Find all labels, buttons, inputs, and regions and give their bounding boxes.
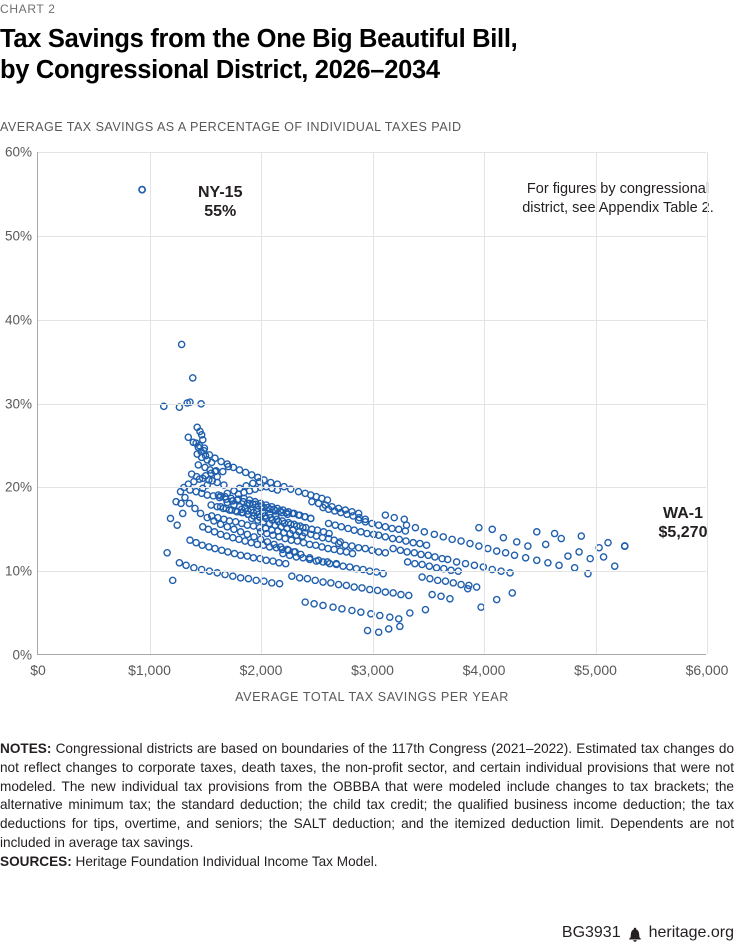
scatter-point	[412, 561, 418, 567]
scatter-point	[319, 544, 325, 550]
title-line-2: by Congressional District, 2026–2034	[0, 55, 700, 86]
scatter-point	[309, 499, 315, 505]
scatter-point	[389, 525, 395, 531]
scatter-point	[349, 551, 355, 557]
scatter-point	[179, 341, 185, 347]
scatter-point	[442, 578, 448, 584]
scatter-point	[245, 576, 251, 582]
scatter-point	[494, 597, 500, 603]
scatter-point	[331, 546, 337, 552]
scatter-point	[230, 573, 236, 579]
scatter-point	[342, 542, 348, 548]
report-id: BG3931	[562, 924, 621, 942]
scatter-point	[182, 494, 188, 500]
scatter-point	[330, 604, 336, 610]
chart-number: CHART 2	[0, 2, 56, 16]
scatter-point	[336, 581, 342, 587]
scatter-point	[244, 531, 250, 537]
scatter-point	[525, 543, 531, 549]
x-axis-tick: $4,000	[463, 662, 506, 678]
scatter-point	[551, 530, 557, 536]
scatter-point	[534, 557, 540, 563]
scatter-point	[377, 612, 383, 618]
scatter-point	[276, 560, 282, 566]
scatter-point	[282, 535, 288, 541]
sources-text: Heritage Foundation Individual Income Ta…	[72, 854, 378, 869]
y-axis-tick: 0%	[12, 648, 32, 663]
scatter-point	[308, 515, 314, 521]
scatter-point	[349, 509, 355, 515]
scatter-point	[382, 550, 388, 556]
scatter-point	[288, 537, 294, 543]
appendix-note: For figures by congressional district, s…	[500, 180, 734, 218]
scatter-point	[503, 550, 509, 556]
scatter-point	[396, 616, 402, 622]
scatter-point	[397, 547, 403, 553]
scatter-point	[319, 535, 325, 541]
scatter-point	[332, 522, 338, 528]
scatter-point	[417, 540, 423, 546]
gridline-vertical	[596, 152, 597, 654]
scatter-point	[205, 526, 211, 532]
scatter-point	[376, 629, 382, 635]
scatter-point	[596, 545, 602, 551]
scatter-point	[277, 581, 283, 587]
scatter-point	[474, 584, 480, 590]
scatter-point	[238, 552, 244, 558]
scatter-point	[315, 500, 321, 506]
scatter-point	[343, 582, 349, 588]
scatter-point	[406, 592, 412, 598]
scatter-point	[270, 558, 276, 564]
scatter-point	[349, 607, 355, 613]
x-axis-tick: $0	[30, 662, 46, 678]
scatter-point	[244, 553, 250, 559]
wa1-label: WA-1	[663, 505, 703, 522]
scatter-point	[320, 579, 326, 585]
scatter-point	[208, 502, 214, 508]
scatter-point	[283, 561, 289, 567]
sources-paragraph: SOURCES: Heritage Foundation Individual …	[0, 853, 734, 872]
y-axis-tick: 30%	[5, 396, 32, 411]
scatter-point	[376, 549, 382, 555]
scatter-point	[302, 599, 308, 605]
scatter-plot: For figures by congressional district, s…	[37, 152, 706, 655]
x-axis-tick: $1,000	[128, 662, 171, 678]
gridline-vertical	[484, 152, 485, 654]
scatter-point	[276, 534, 282, 540]
scatter-point	[427, 576, 433, 582]
scatter-point	[294, 538, 300, 544]
scatter-point	[545, 560, 551, 566]
site-url: heritage.org	[649, 924, 734, 942]
scatter-point	[462, 561, 468, 567]
scatter-point	[185, 434, 191, 440]
scatter-point	[325, 520, 331, 526]
scatter-point	[174, 522, 180, 528]
scatter-point	[193, 540, 199, 546]
x-axis-title: AVERAGE TOTAL TAX SAVINGS PER YEAR	[235, 690, 509, 704]
scatter-point	[217, 521, 223, 527]
scatter-point	[382, 524, 388, 530]
scatter-point	[374, 587, 380, 593]
scatter-point	[467, 540, 473, 546]
x-axis-tick: $5,000	[574, 662, 617, 678]
scatter-point	[224, 533, 230, 539]
scatter-point	[396, 536, 402, 542]
scatter-point	[600, 554, 606, 560]
scatter-point	[313, 542, 319, 548]
scatter-point	[511, 552, 517, 558]
scatter-point	[364, 530, 370, 536]
y-axis-tick: 40%	[5, 312, 32, 327]
scatter-point	[587, 556, 593, 562]
scatter-point	[220, 469, 226, 475]
scatter-point	[224, 524, 230, 530]
y-axis-tick: 10%	[5, 564, 32, 579]
scatter-point	[307, 541, 313, 547]
scatter-point	[390, 590, 396, 596]
scatter-point	[358, 609, 364, 615]
appendix-note-line-1: For figures by congressional	[527, 181, 709, 197]
scatter-point	[401, 516, 407, 522]
scatter-point	[425, 552, 431, 558]
scatter-point	[340, 563, 346, 569]
scatter-point	[419, 561, 425, 567]
scatter-point	[180, 510, 186, 516]
scatter-point	[225, 549, 231, 555]
scatter-point	[339, 606, 345, 612]
scatter-point	[612, 563, 618, 569]
scatter-point	[407, 610, 413, 616]
scatter-point	[433, 565, 439, 571]
scatter-point	[311, 601, 317, 607]
scatter-point-highlighted	[622, 543, 628, 549]
scatter-point	[238, 529, 244, 535]
scatter-point	[423, 542, 429, 548]
scatter-point	[410, 540, 416, 546]
y-axis-tick: 60%	[5, 145, 32, 160]
x-axis-tick: $3,000	[351, 662, 394, 678]
ny15-annotation: NY-15 55%	[198, 183, 242, 221]
scatter-point	[386, 626, 392, 632]
scatter-point	[362, 545, 368, 551]
scatter-point	[250, 523, 256, 529]
scatter-point	[543, 541, 549, 547]
scatter-point	[167, 515, 173, 521]
scatter-point	[183, 562, 189, 568]
scatter-point	[297, 575, 303, 581]
scatter-point	[187, 537, 193, 543]
scatter-point	[320, 602, 326, 608]
scatter-point	[556, 562, 562, 568]
scatter-point	[382, 534, 388, 540]
scatter-point	[170, 577, 176, 583]
scatter-point	[449, 536, 455, 542]
notes-label: NOTES:	[0, 741, 51, 756]
gridline-vertical	[707, 152, 708, 654]
scatter-point	[454, 559, 460, 565]
scatter-point	[382, 589, 388, 595]
scatter-point	[534, 529, 540, 535]
gridline-vertical	[373, 152, 374, 654]
scatter-point	[391, 515, 397, 521]
scatter-point	[269, 580, 275, 586]
scatter-point	[359, 585, 365, 591]
scatter-point	[412, 525, 418, 531]
scatter-point	[325, 545, 331, 551]
scatter-point	[349, 543, 355, 549]
scatter-point	[403, 538, 409, 544]
scatter-point	[218, 458, 224, 464]
scatter-point-highlighted	[139, 187, 145, 193]
scatter-point	[476, 525, 482, 531]
scatter-point	[476, 543, 482, 549]
scatter-point	[186, 500, 192, 506]
scatter-point	[250, 555, 256, 561]
footer: BG3931 heritage.org	[562, 924, 734, 942]
scatter-point	[387, 614, 393, 620]
scatter-point	[212, 545, 218, 551]
scatter-point	[191, 565, 197, 571]
title-line-1: Tax Savings from the One Big Beautiful B…	[0, 24, 700, 55]
scatter-point	[211, 529, 217, 535]
scatter-point	[195, 462, 201, 468]
scatter-point	[396, 526, 402, 532]
x-axis-tick: $6,000	[686, 662, 729, 678]
scatter-point	[390, 545, 396, 551]
scatter-point	[605, 540, 611, 546]
scatter-point	[244, 522, 250, 528]
scatter-point	[356, 545, 362, 551]
scatter-point	[312, 577, 318, 583]
scatter-point	[397, 623, 403, 629]
scatter-point	[565, 553, 571, 559]
scatter-point	[233, 519, 239, 525]
scatter-point	[418, 551, 424, 557]
scatter-point	[435, 577, 441, 583]
scatter-point	[494, 548, 500, 554]
scatter-point	[489, 526, 495, 532]
scatter-point	[509, 590, 515, 596]
scatter-point	[236, 467, 242, 473]
gridline-vertical	[150, 152, 151, 654]
scatter-point	[268, 479, 274, 485]
scatter-point	[572, 565, 578, 571]
scatter-point	[238, 575, 244, 581]
x-axis-tick: $2,000	[240, 662, 283, 678]
scatter-point	[263, 557, 269, 563]
scatter-point	[523, 555, 529, 561]
scatter-point	[192, 505, 198, 511]
sources-label: SOURCES:	[0, 854, 72, 869]
scatter-point	[390, 535, 396, 541]
scatter-point	[404, 549, 410, 555]
scatter-point	[421, 529, 427, 535]
scatter-point	[450, 580, 456, 586]
scatter-point	[458, 581, 464, 587]
notes-text: Congressional districts are based on bou…	[0, 741, 734, 850]
scatter-point	[351, 527, 357, 533]
scatter-point	[458, 538, 464, 544]
scatter-point	[206, 544, 212, 550]
scatter-point	[230, 535, 236, 541]
scatter-point	[447, 596, 453, 602]
scatter-point	[431, 531, 437, 537]
wa1-value: $5,270	[659, 524, 708, 541]
scatter-point	[485, 545, 491, 551]
scatter-point	[356, 510, 362, 516]
liberty-bell-icon	[628, 927, 642, 942]
scatter-point	[426, 563, 432, 569]
scatter-point	[222, 571, 228, 577]
y-axis-tick: 50%	[5, 228, 32, 243]
page-title: Tax Savings from the One Big Beautiful B…	[0, 24, 700, 86]
scatter-point	[249, 472, 255, 478]
scatter-point	[236, 536, 242, 542]
y-axis-tick: 20%	[5, 480, 32, 495]
scatter-point	[429, 592, 435, 598]
scatter-point	[177, 489, 183, 495]
scatter-point	[382, 512, 388, 518]
chart-subtitle: AVERAGE TAX SAVINGS AS A PERCENTAGE OF I…	[0, 120, 462, 134]
scatter-point	[219, 547, 225, 553]
scatter-point	[199, 542, 205, 548]
scatter-point	[295, 489, 301, 495]
scatter-point	[176, 404, 182, 410]
chart-page: CHART 2 Tax Savings from the One Big Bea…	[0, 0, 734, 950]
scatter-point	[231, 551, 237, 557]
scatter-point	[398, 592, 404, 598]
scatter-point	[471, 562, 477, 568]
scatter-point	[432, 554, 438, 560]
scatter-point	[438, 593, 444, 599]
scatter-point	[338, 524, 344, 530]
scatter-point	[405, 559, 411, 565]
ny15-label: NY-15	[198, 184, 242, 201]
scatter-point	[242, 538, 248, 544]
scatter-point	[358, 529, 364, 535]
scatter-point	[300, 540, 306, 546]
scatter-point	[217, 531, 223, 537]
scatter-point	[336, 540, 342, 546]
scatter-point	[440, 534, 446, 540]
scatter-point	[578, 533, 584, 539]
scatter-point	[364, 627, 370, 633]
scatter-point	[337, 548, 343, 554]
scatter-point	[231, 526, 237, 532]
scatter-point	[500, 535, 506, 541]
scatter-point	[347, 564, 353, 570]
scatter-point	[376, 522, 382, 528]
scatter-point	[328, 580, 334, 586]
scatter-point	[422, 607, 428, 613]
scatter-point	[419, 574, 425, 580]
scatter-point	[411, 550, 417, 556]
scatter-point	[176, 560, 182, 566]
scatter-point	[343, 549, 349, 555]
scatter-point	[514, 539, 520, 545]
scatter-point	[402, 528, 408, 534]
notes-paragraph: NOTES: Congressional districts are based…	[0, 740, 734, 853]
scatter-point	[576, 549, 582, 555]
appendix-note-line-2: district, see Appendix Table 2.	[522, 200, 714, 216]
scatter-point	[304, 576, 310, 582]
chart-area: For figures by congressional district, s…	[0, 145, 734, 690]
ny15-value: 55%	[198, 202, 242, 221]
scatter-point	[243, 469, 249, 475]
scatter-point	[345, 525, 351, 531]
scatter-point	[351, 584, 357, 590]
notes-block: NOTES: Congressional districts are based…	[0, 740, 734, 872]
scatter-point	[251, 534, 257, 540]
gridline-vertical	[261, 152, 262, 654]
scatter-point	[164, 550, 170, 556]
scatter-point	[197, 510, 203, 516]
wa1-annotation: WA-1 $5,270	[643, 504, 723, 542]
scatter-point	[190, 375, 196, 381]
scatter-point	[558, 535, 564, 541]
scatter-point	[289, 573, 295, 579]
scatter-point	[253, 577, 259, 583]
